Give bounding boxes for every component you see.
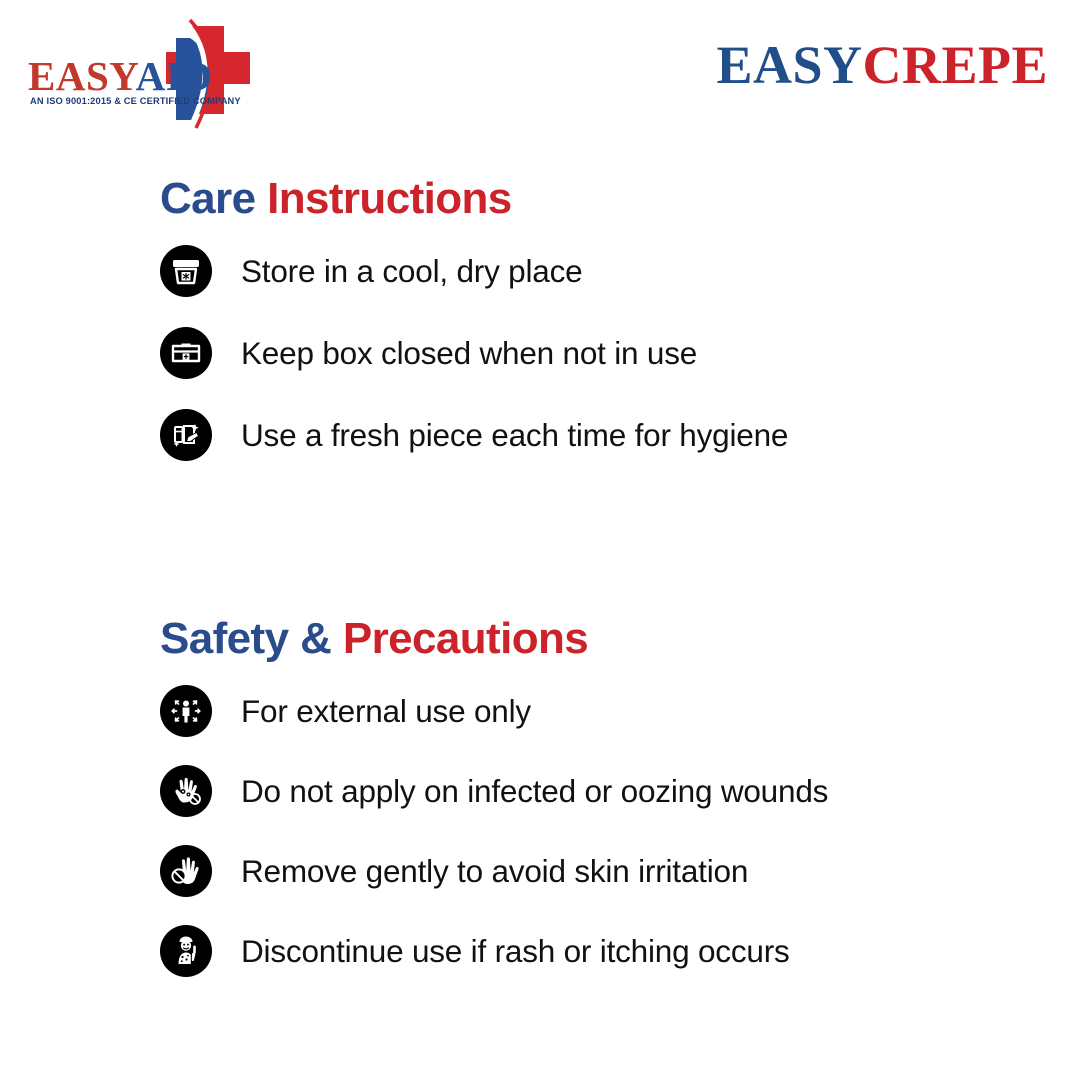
easycrepe-logo-easy: EASY — [716, 35, 862, 95]
safety-precautions-title-part1: Safety & — [160, 614, 331, 663]
easyaid-wordmark: EASYAID — [28, 56, 212, 97]
list-item-label: Use a fresh piece each time for hygiene — [241, 417, 788, 454]
list-item: Use a fresh piece each time for hygiene — [160, 409, 788, 461]
list-item: Remove gently to avoid skin irritation — [160, 845, 828, 897]
list-item: Discontinue use if rash or itching occur… — [160, 925, 828, 977]
safety-precautions-list: For external use only Do not apply on in… — [160, 685, 828, 977]
registered-trademark-icon: ® — [186, 42, 196, 58]
easyaid-wordmark-aid: AID — [136, 53, 213, 99]
closed-first-aid-box-icon — [160, 327, 212, 379]
care-instructions-title: Care Instructions — [160, 175, 788, 223]
brand-tagline: AN ISO 9001:2015 & CE CERTIFIED COMPANY — [30, 96, 241, 106]
safety-precautions-section: Safety & Precautions Fo — [160, 615, 828, 1005]
easycrepe-logo-crepe: CREPE — [862, 35, 1048, 95]
list-item-label: Remove gently to avoid skin irritation — [241, 853, 748, 890]
list-item-label: Discontinue use if rash or itching occur… — [241, 933, 790, 970]
safety-precautions-title-part2: Precautions — [343, 614, 588, 663]
list-item: Do not apply on infected or oozing wound… — [160, 765, 828, 817]
easyaid-brand-logo: EASYAID ® AN ISO 9001:2015 & CE CERTIFIE… — [28, 18, 258, 128]
rash-itching-person-icon — [160, 925, 212, 977]
care-instructions-title-part2: Instructions — [267, 174, 512, 223]
easyaid-wordmark-easy: EASY — [28, 53, 136, 99]
care-instructions-title-part1: Care — [160, 174, 255, 223]
list-item: For external use only — [160, 685, 828, 737]
list-item: Store in a cool, dry place — [160, 245, 788, 297]
list-item-label: Keep box closed when not in use — [241, 335, 697, 372]
care-instructions-section: Care Instructions Store in a cool, dry p… — [160, 175, 788, 491]
easycrepe-product-logo: EASYCREPE — [716, 38, 1048, 92]
no-infected-wound-hand-icon — [160, 765, 212, 817]
care-instructions-list: Store in a cool, dry place Keep box clos… — [160, 245, 788, 461]
list-item-label: For external use only — [241, 693, 531, 730]
list-item: Keep box closed when not in use — [160, 327, 788, 379]
list-item-label: Do not apply on infected or oozing wound… — [241, 773, 828, 810]
list-item-label: Store in a cool, dry place — [241, 253, 583, 290]
no-rough-removal-hand-icon — [160, 845, 212, 897]
page-header: EASYAID ® AN ISO 9001:2015 & CE CERTIFIE… — [0, 0, 1080, 150]
fresh-piece-hygiene-hand-icon — [160, 409, 212, 461]
external-use-person-icon — [160, 685, 212, 737]
cool-dry-storage-box-icon — [160, 245, 212, 297]
safety-precautions-title: Safety & Precautions — [160, 615, 828, 663]
